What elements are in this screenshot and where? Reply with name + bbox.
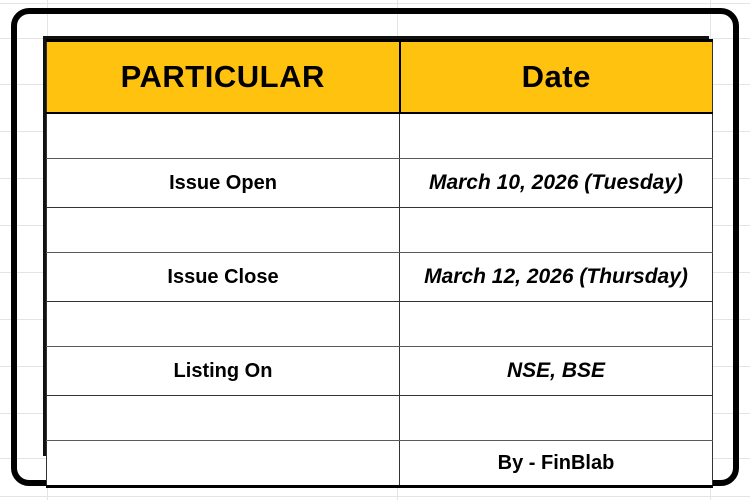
spacer-cell-right <box>400 208 713 253</box>
row-value-issue-open: March 10, 2026 (Tuesday) <box>400 159 713 208</box>
table-spacer-row <box>47 208 713 253</box>
spacer-cell-left <box>47 113 400 159</box>
column-header-date: Date <box>400 41 713 114</box>
spacer-cell-right <box>400 302 713 347</box>
table-spacer-row <box>47 302 713 347</box>
table-row: Listing On NSE, BSE <box>47 347 713 396</box>
spacer-cell-right <box>400 396 713 441</box>
table-row: Issue Close March 12, 2026 (Thursday) <box>47 253 713 302</box>
row-value-issue-close: March 12, 2026 (Thursday) <box>400 253 713 302</box>
table-spacer-row <box>47 396 713 441</box>
table-header-row: PARTICULAR Date <box>47 41 713 114</box>
spacer-cell-left <box>47 396 400 441</box>
row-value-listing-on: NSE, BSE <box>400 347 713 396</box>
column-header-particular: PARTICULAR <box>47 41 400 114</box>
credit-empty-cell <box>47 441 400 487</box>
spacer-cell-left <box>47 302 400 347</box>
credit-attribution: By - FinBlab <box>400 441 713 487</box>
grid-horizontal-line <box>0 3 750 4</box>
row-label-issue-open: Issue Open <box>47 159 400 208</box>
spacer-cell-left <box>47 208 400 253</box>
spacer-cell-right <box>400 113 713 159</box>
row-label-listing-on: Listing On <box>47 347 400 396</box>
table-credit-row: By - FinBlab <box>47 441 713 487</box>
grid-horizontal-line <box>0 496 750 497</box>
table-spacer-row <box>47 113 713 159</box>
spreadsheet-screenshot: PARTICULAR Date Issue Open March 10, 202… <box>0 0 750 500</box>
table-row: Issue Open March 10, 2026 (Tuesday) <box>47 159 713 208</box>
ipo-schedule-table: PARTICULAR Date Issue Open March 10, 202… <box>43 36 709 456</box>
row-label-issue-close: Issue Close <box>47 253 400 302</box>
